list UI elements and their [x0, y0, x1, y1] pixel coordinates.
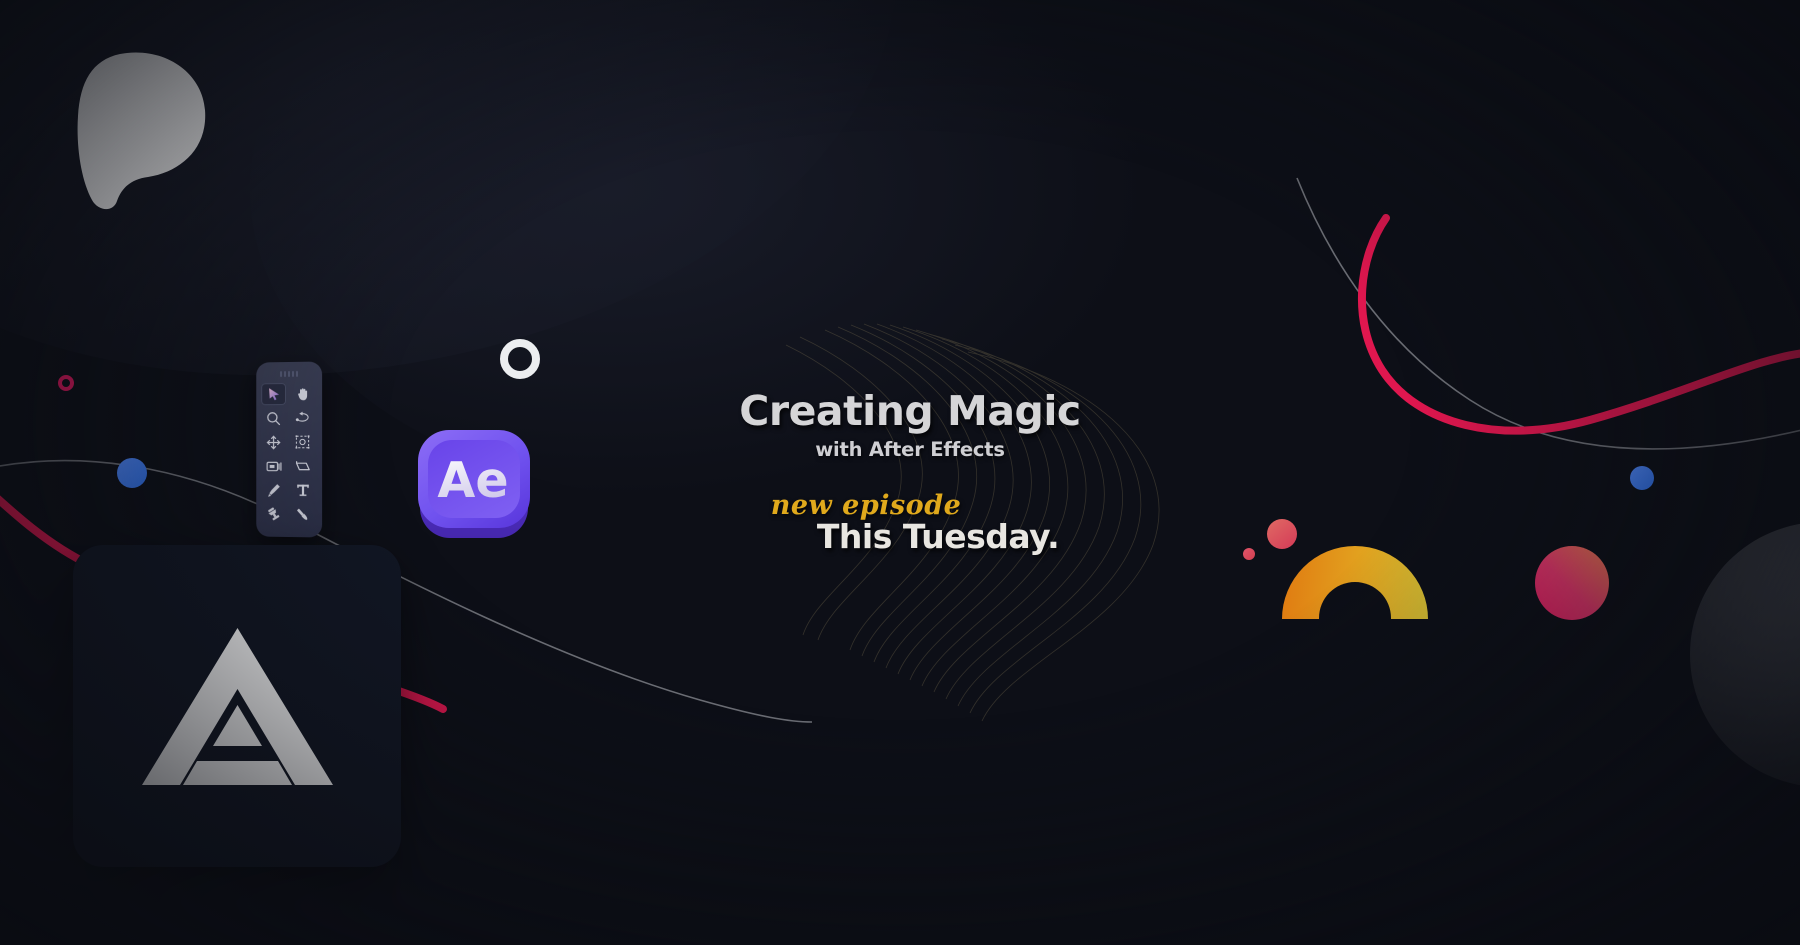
- camera-tool-icon[interactable]: [261, 455, 286, 477]
- pan-behind-tool-icon[interactable]: [261, 431, 286, 453]
- title-block: Creating Magic with After Effects: [700, 390, 1120, 461]
- pen-tool-icon[interactable]: [261, 479, 286, 501]
- pink-orange-gradient-circle: [1535, 546, 1609, 620]
- orange-gradient-arch: [1282, 546, 1428, 619]
- blue-dot-shape: [117, 458, 147, 488]
- dark-sphere-shape: [1690, 522, 1800, 787]
- brush-tool-icon[interactable]: [290, 503, 315, 525]
- hand-tool-icon[interactable]: [290, 383, 315, 405]
- pink-ring-shape: [58, 375, 74, 391]
- patreon-logo: [72, 50, 207, 210]
- poster-canvas: Ae Creating Magic with After Effects new…: [0, 0, 1800, 945]
- svg-text:Ae: Ae: [437, 452, 508, 509]
- page-title: Creating Magic: [700, 390, 1120, 433]
- announcement-block: new episode This Tuesday.: [690, 490, 1130, 556]
- blue-dot-shape: [1630, 466, 1654, 490]
- mask-tool-icon[interactable]: [290, 431, 315, 453]
- after-effects-app-icon[interactable]: Ae: [414, 426, 536, 544]
- white-ring-shape: [500, 339, 540, 379]
- triangle-a-logo: [140, 624, 335, 789]
- page-subtitle: with After Effects: [700, 438, 1120, 461]
- brand-card[interactable]: [73, 545, 401, 867]
- red-dot-shape: [1267, 519, 1297, 549]
- zoom-tool-icon[interactable]: [261, 407, 286, 429]
- toolbar-grip-handle[interactable]: [256, 371, 322, 378]
- type-tool-icon[interactable]: [290, 479, 315, 501]
- after-effects-toolbar[interactable]: [256, 361, 322, 537]
- selection-tool-icon[interactable]: [261, 383, 286, 405]
- red-dot-shape: [1243, 548, 1255, 560]
- episode-day: This Tuesday.: [718, 517, 1158, 556]
- rotation-tool-icon[interactable]: [290, 407, 315, 429]
- clone-stamp-tool-icon[interactable]: [261, 503, 286, 525]
- shape-tool-icon[interactable]: [290, 455, 315, 477]
